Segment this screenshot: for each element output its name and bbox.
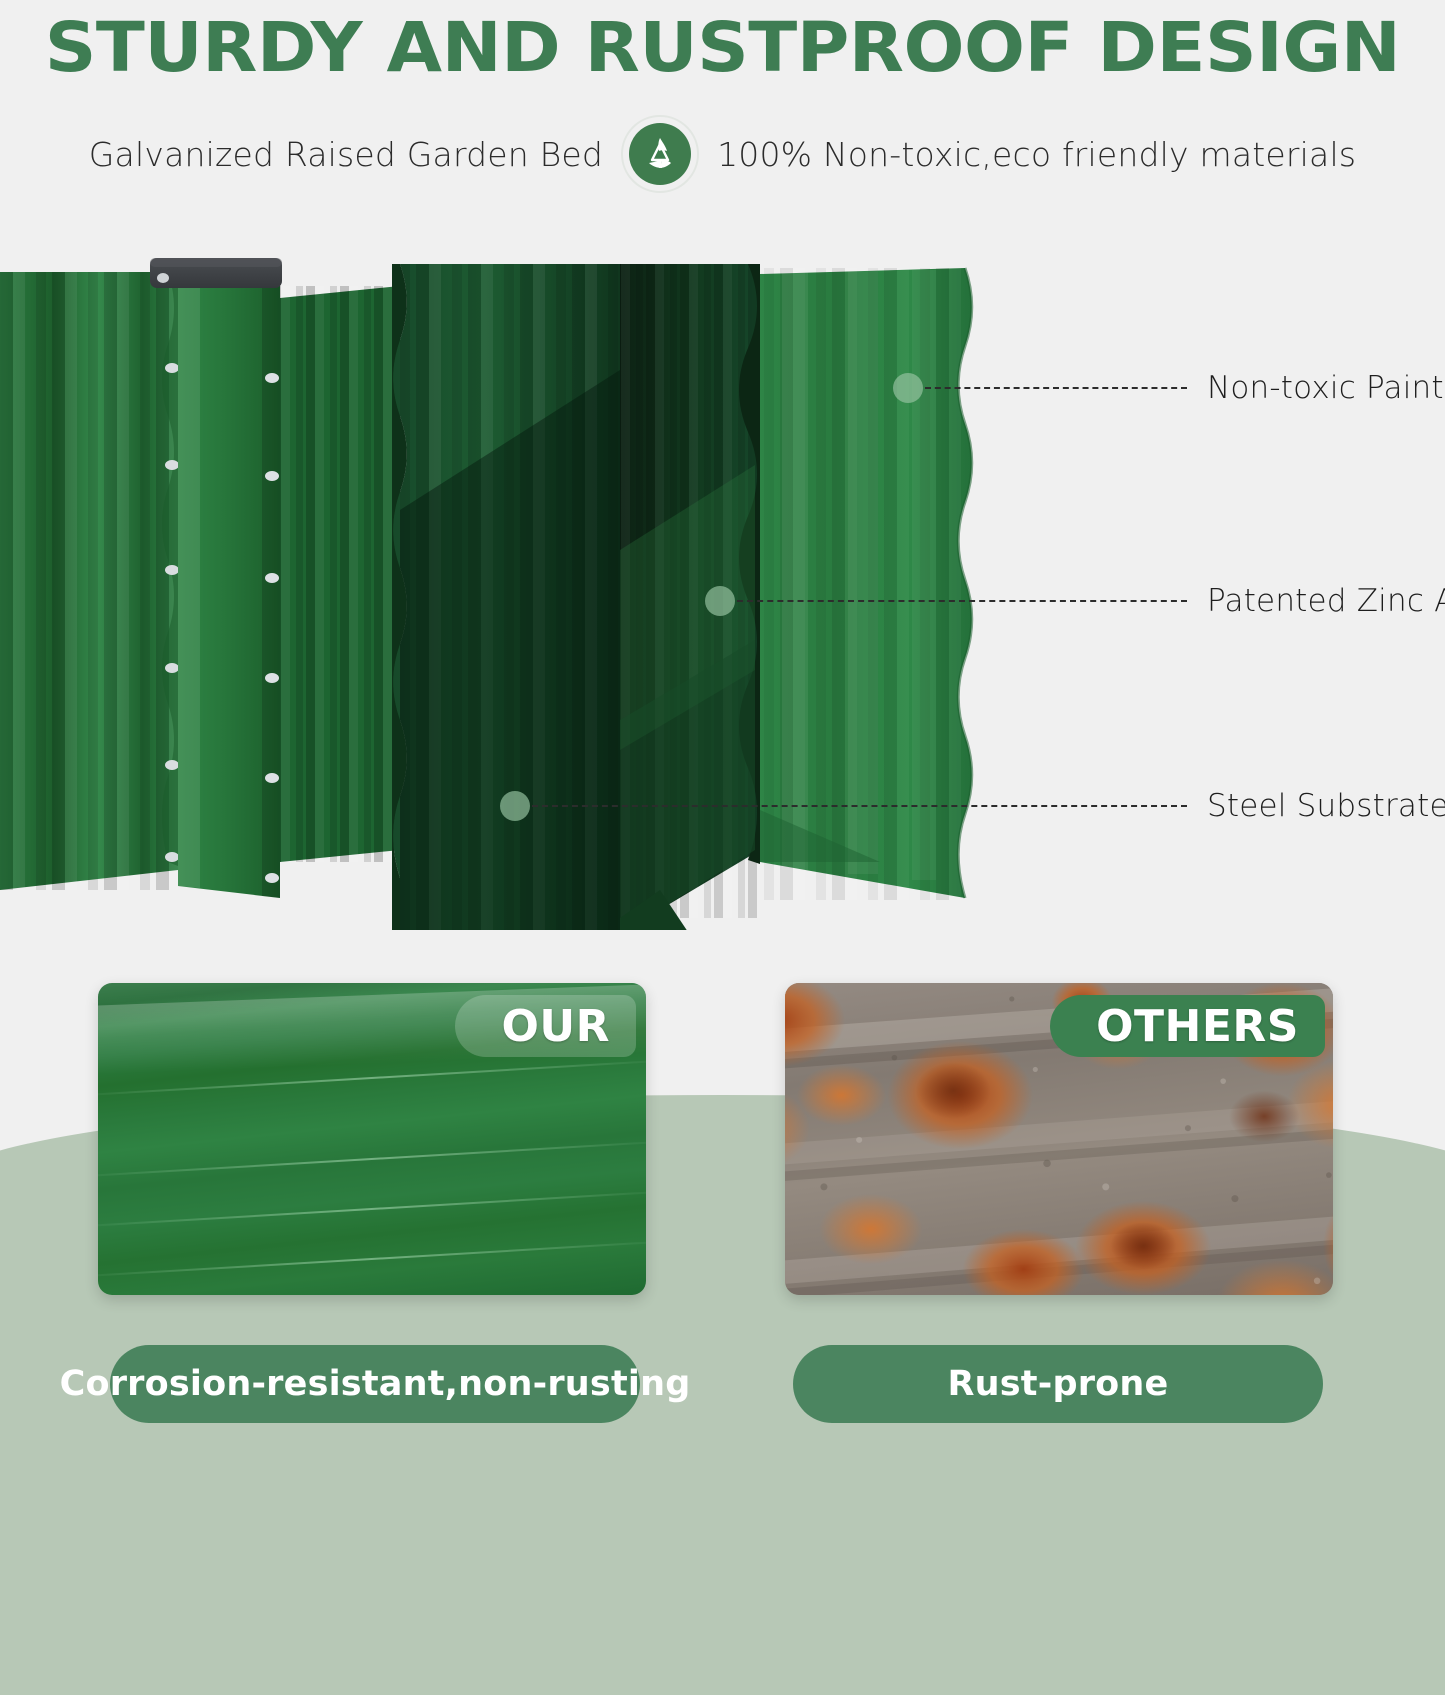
comparison-card-others: OTHERS bbox=[785, 983, 1333, 1295]
callout-non-toxic-paint: Non-toxic Paint bbox=[893, 370, 1444, 406]
callout-label: Steel Substrate bbox=[1207, 788, 1445, 824]
corner-cap bbox=[150, 258, 282, 288]
mid-corrugated-slab bbox=[392, 264, 620, 930]
callout-steel-substrate: Steel Substrate bbox=[500, 788, 1445, 824]
leader-line bbox=[532, 805, 1187, 807]
comparison-card-our: OUR bbox=[98, 983, 646, 1295]
callout-dot-icon bbox=[705, 586, 735, 616]
comparison-section: OUR bbox=[0, 975, 1445, 1445]
left-corrugated-wall bbox=[0, 272, 179, 890]
badge-our: OUR bbox=[455, 995, 636, 1057]
eco-recycle-leaves-icon bbox=[621, 115, 699, 193]
subtitle-row: Galvanized Raised Garden Bed 100% Non-to… bbox=[0, 115, 1445, 193]
callout-dot-icon bbox=[500, 791, 530, 821]
page-title: STURDY AND RUSTPROOF DESIGN bbox=[0, 0, 1445, 83]
subtitle-left: Galvanized Raised Garden Bed bbox=[89, 135, 603, 174]
screw bbox=[157, 273, 169, 283]
leader-line bbox=[925, 387, 1187, 389]
subtitle-right: 100% Non-toxic,eco friendly materials bbox=[717, 135, 1356, 174]
callout-label: Non-toxic Paint bbox=[1207, 370, 1444, 406]
callout-zinc-coating: Patented Zinc Allo Coating bbox=[705, 583, 1445, 619]
callout-dot-icon bbox=[893, 373, 923, 403]
leader-line bbox=[737, 600, 1187, 602]
header: STURDY AND RUSTPROOF DESIGN Galvanized R… bbox=[0, 0, 1445, 193]
back-wall-strip bbox=[280, 286, 400, 862]
badge-others: OTHERS bbox=[1050, 995, 1325, 1057]
corner-post bbox=[178, 274, 280, 898]
callout-label: Patented Zinc Allo Coating bbox=[1207, 583, 1445, 619]
